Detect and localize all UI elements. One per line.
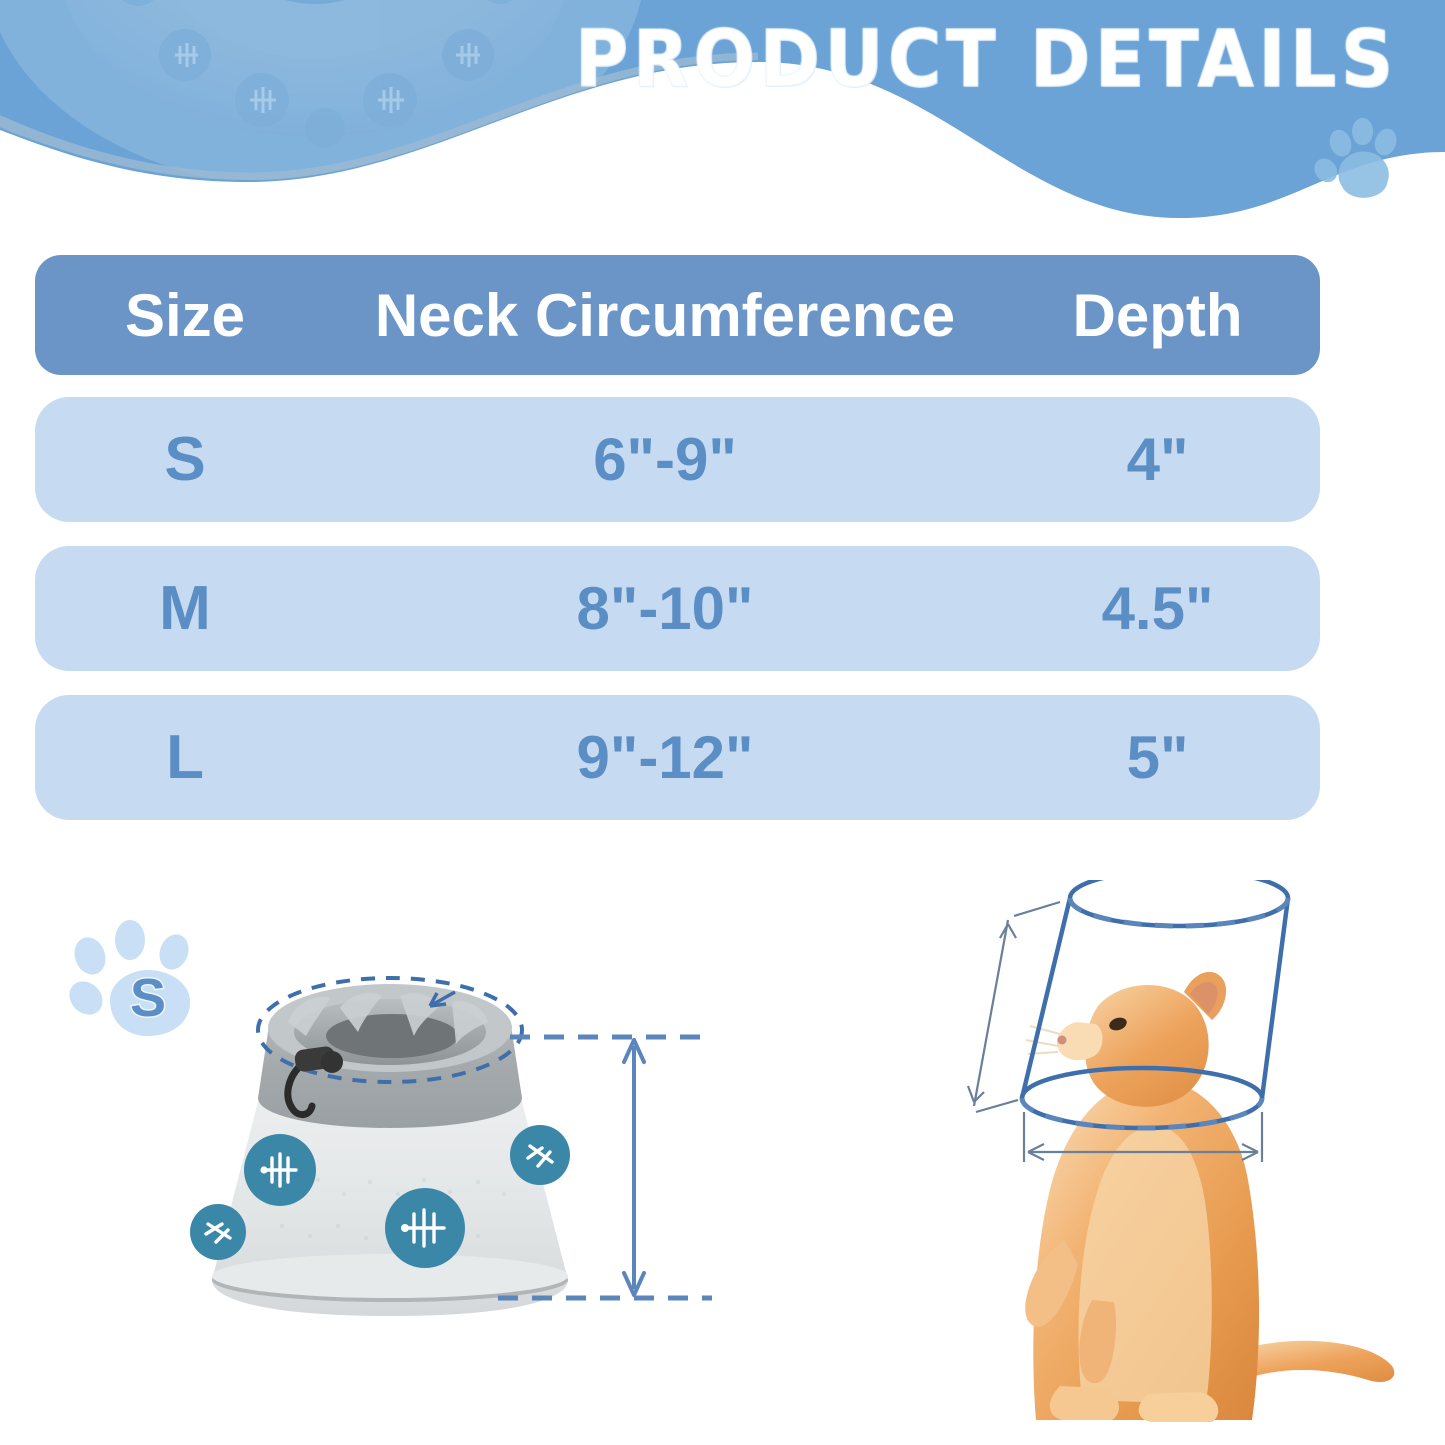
header-size: Size xyxy=(125,282,245,349)
cell-neck-l: 9"-12" xyxy=(577,724,754,791)
table-row: L 9"-12" 5" xyxy=(35,695,1320,820)
table-row: S 6"-9" 4" xyxy=(35,397,1320,522)
cell-neck-m: 8"-10" xyxy=(577,575,754,642)
table-header-row: Size Neck Circumference Depth xyxy=(35,255,1320,375)
bottom-illustrations: S xyxy=(0,880,1445,1445)
cell-size-l: L xyxy=(166,723,204,792)
cone-top-dashed-arc xyxy=(1070,898,1288,926)
cell-neck-s: 6"-9" xyxy=(593,426,737,493)
cell-depth-m: 4.5" xyxy=(1102,575,1214,642)
cell-depth-s: 4" xyxy=(1127,426,1189,493)
left-and-right-diagram-svg: S xyxy=(0,880,1445,1445)
cell-depth-l: 5" xyxy=(1127,724,1189,791)
product-cone-image xyxy=(190,978,570,1316)
cell-size-m: M xyxy=(159,574,211,643)
product-details-page: PRODUCT DETAILS Size Neck Circumference … xyxy=(0,0,1445,1445)
header-depth: Depth xyxy=(1073,282,1243,349)
page-title: PRODUCT DETAILS xyxy=(575,14,1375,106)
table-row: M 8"-10" 4.5" xyxy=(35,546,1320,671)
cell-size-s: S xyxy=(164,425,205,494)
size-paw-badge: S xyxy=(63,920,194,1036)
top-banner: PRODUCT DETAILS xyxy=(0,0,1445,235)
badge-letter-s: S xyxy=(130,968,166,1028)
size-chart-table: Size Neck Circumference Depth S 6"-9" 4"… xyxy=(35,255,1320,844)
cat-illustration xyxy=(1025,972,1394,1422)
header-neck-circumference: Neck Circumference xyxy=(375,282,955,349)
